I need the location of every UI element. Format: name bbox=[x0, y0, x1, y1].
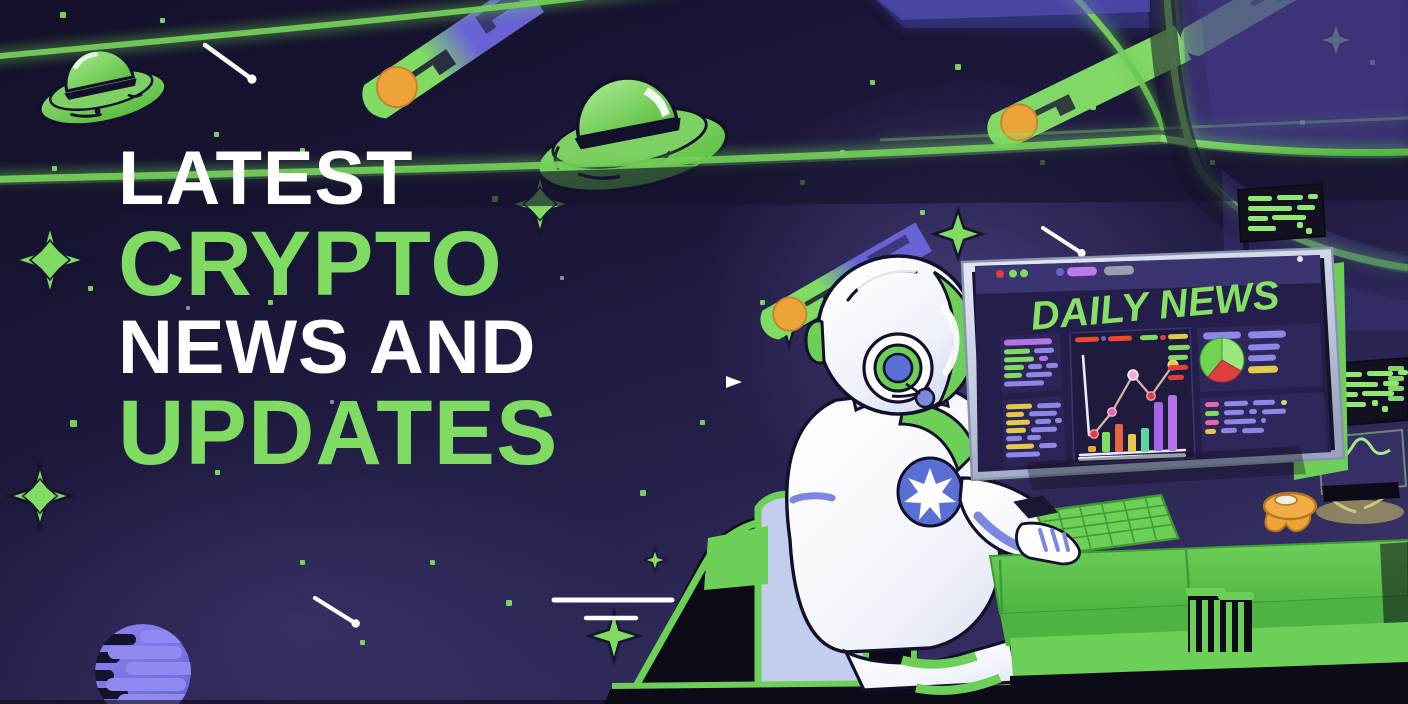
monitor bbox=[960, 240, 1360, 516]
space-scene-illustration bbox=[0, 0, 1408, 704]
titlebar-dots bbox=[996, 269, 1028, 278]
bottom-shadow bbox=[0, 700, 1408, 704]
side-gauge-strip bbox=[1384, 362, 1404, 436]
screen-panel-left-b bbox=[1002, 396, 1066, 468]
pie-chart bbox=[1200, 338, 1244, 382]
banner-canvas: LATEST CRYPTO NEWS AND UPDATES DAILY NEW… bbox=[0, 0, 1408, 704]
screen-panel-right-a bbox=[1197, 323, 1323, 392]
screen-panel-left-a bbox=[1000, 333, 1062, 394]
mission-badge bbox=[898, 458, 962, 526]
green-canisters bbox=[1186, 588, 1256, 660]
